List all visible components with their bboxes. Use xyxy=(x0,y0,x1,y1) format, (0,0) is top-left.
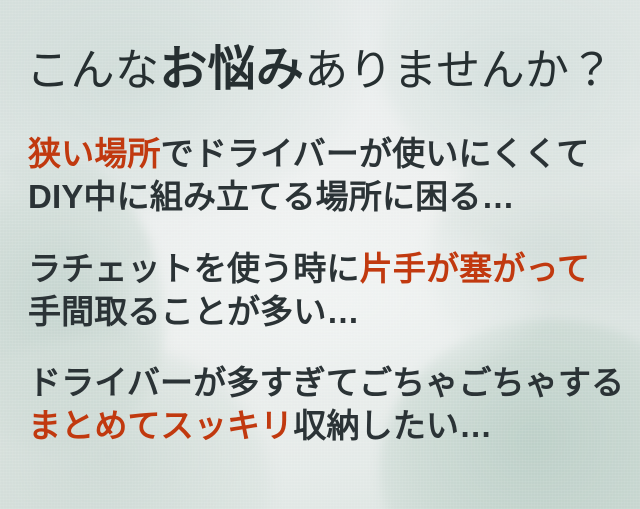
problem-2-line-1-lead: ラチェットを使う時に xyxy=(28,250,360,287)
problem-1-line-1-rest: でドライバーが使いにくくて xyxy=(161,135,590,172)
problem-2-line-1: ラチェットを使う時に片手が塞がって xyxy=(28,248,624,291)
problem-1-accent: 狭い場所 xyxy=(28,135,161,172)
problem-3-line-2: まとめてスッキリ収納したい… xyxy=(28,405,624,448)
slide-content: こんなお悩みありませんか？ 狭い場所でドライバーが使いにくくて DIY中に組み立… xyxy=(0,0,640,509)
page-title: こんなお悩みありませんか？ xyxy=(0,46,640,94)
problem-2-line-2: 手間取ることが多い… xyxy=(28,291,624,334)
problem-1-line-2: DIY中に組み立てる場所に困る… xyxy=(28,176,624,219)
problem-3-line-2-rest: 収納したい… xyxy=(293,407,492,444)
problem-1-line-1: 狭い場所でドライバーが使いにくくて xyxy=(28,133,624,176)
problem-item-1: 狭い場所でドライバーが使いにくくて DIY中に組み立てる場所に困る… xyxy=(28,133,624,219)
headline-tail: ありませんか？ xyxy=(304,46,614,95)
problem-2-accent: 片手が塞がって xyxy=(360,250,591,287)
problem-3-accent: まとめてスッキリ xyxy=(28,407,293,444)
headline-lead: こんな xyxy=(26,46,159,95)
problem-item-3: ドライバーが多すぎてごちゃごちゃする まとめてスッキリ収納したい… xyxy=(28,362,624,448)
headline-emphasis: お悩み xyxy=(159,43,304,96)
problem-item-2: ラチェットを使う時に片手が塞がって 手間取ることが多い… xyxy=(28,248,624,334)
promotional-slide: こんなお悩みありませんか？ 狭い場所でドライバーが使いにくくて DIY中に組み立… xyxy=(0,0,640,509)
problem-3-line-1: ドライバーが多すぎてごちゃごちゃする xyxy=(28,362,624,405)
